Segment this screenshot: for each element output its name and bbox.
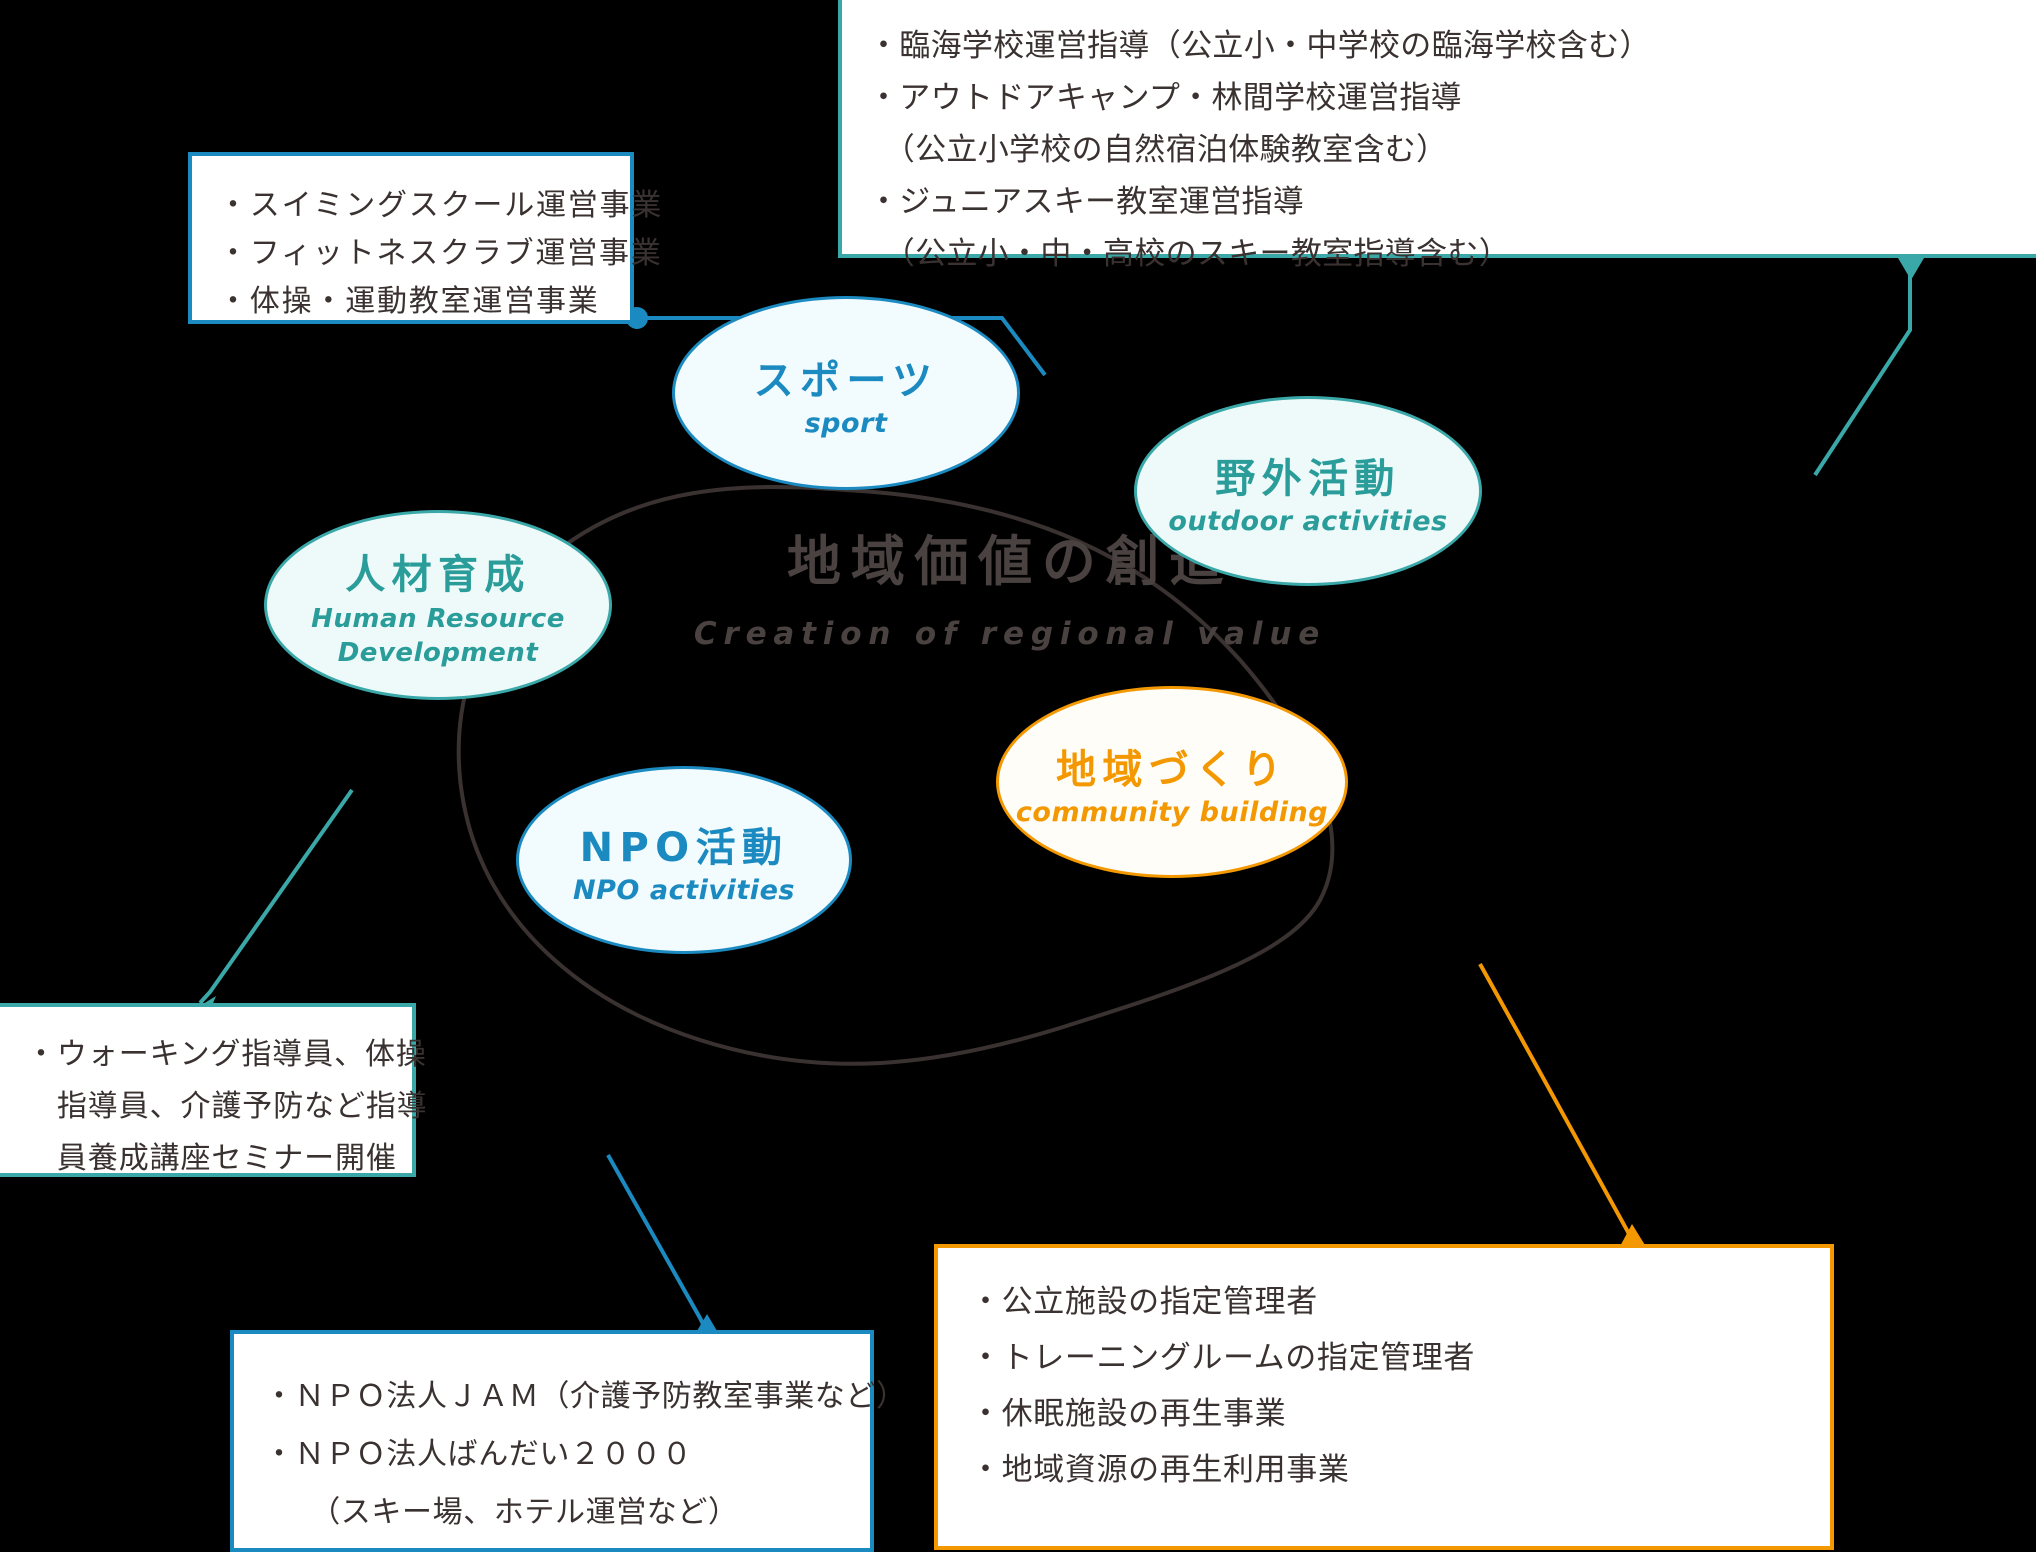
node-outdoor-label-en: outdoor activities	[1168, 506, 1447, 537]
callout-line: ・ＮＰＯ法人ばんだい２０００	[264, 1426, 870, 1484]
callout-line: （スキー場、ホテル運営など）	[264, 1484, 870, 1542]
connector-outdoor	[1815, 258, 1924, 475]
connector-hr	[190, 790, 352, 1020]
diagram-canvas: 地域価値の創造 Creation of regional value スポーツ …	[0, 0, 2036, 1550]
callout-line: ・ＮＰＯ法人ＪＡＭ（介護予防教室事業など）	[264, 1368, 870, 1426]
callout-line: ・ウォーキング指導員、体操	[26, 1029, 412, 1081]
node-outdoor[interactable]: 野外活動 outdoor activities	[1134, 396, 1482, 586]
callout-box-human-resource: ・ウォーキング指導員、体操 指導員、介護予防など指導 員養成講座セミナー開催	[0, 1003, 416, 1177]
callout-line: ・休眠施設の再生事業	[970, 1386, 1830, 1442]
connector-npo	[608, 1155, 720, 1336]
callout-line: 指導員、介護予防など指導	[26, 1081, 412, 1133]
node-hr-label-en-line2: Development	[338, 638, 539, 668]
callout-box-sports: ・スイミングスクール運営事業 ・フィットネスクラブ運営事業 ・体操・運動教室運営…	[188, 152, 634, 324]
center-title-en: Creation of regional value	[620, 604, 1400, 664]
connector-community	[1480, 964, 1648, 1250]
callout-line: ・トレーニングルームの指定管理者	[970, 1330, 1830, 1386]
callout-line: ・体操・運動教室運営事業	[218, 278, 630, 326]
node-npo-label-jp: NPO活動	[580, 815, 789, 873]
node-community-label-en: community building	[1016, 797, 1328, 828]
callout-line: ・臨海学校運営指導（公立小・中学校の臨海学校含む）	[868, 20, 2036, 72]
node-npo[interactable]: NPO活動 NPO activities	[516, 766, 852, 954]
node-community-building[interactable]: 地域づくり community building	[996, 686, 1348, 878]
callout-box-community: ・公立施設の指定管理者 ・トレーニングルームの指定管理者 ・休眠施設の再生事業 …	[934, 1244, 1834, 1550]
callout-line: ・スイミングスクール運営事業	[218, 182, 630, 230]
callout-box-npo: ・ＮＰＯ法人ＪＡＭ（介護予防教室事業など） ・ＮＰＯ法人ばんだい２０００ （スキ…	[230, 1330, 874, 1552]
node-sport-label-jp: スポーツ	[754, 348, 939, 406]
node-hr-label-jp: 人材育成	[345, 542, 531, 600]
callout-box-outdoor: ・臨海学校運営指導（公立小・中学校の臨海学校含む） ・アウトドアキャンプ・林間学…	[838, 0, 2036, 258]
node-human-resource[interactable]: 人材育成 Human Resource Development	[264, 510, 612, 700]
node-outdoor-label-jp: 野外活動	[1215, 446, 1401, 504]
node-community-label-jp: 地域づくり	[1056, 737, 1288, 795]
callout-line: ・アウトドアキャンプ・林間学校運営指導	[868, 72, 2036, 124]
callout-line: （公立小・中・高校のスキー教室指導含む）	[868, 228, 2036, 280]
callout-line: ・ジュニアスキー教室運営指導	[868, 176, 2036, 228]
callout-line: ・フィットネスクラブ運営事業	[218, 230, 630, 278]
node-hr-label-en-line1: Human Resource	[311, 604, 565, 634]
node-npo-label-en: NPO activities	[573, 875, 795, 906]
node-sport-label-en: sport	[805, 408, 888, 439]
callout-line: 員養成講座セミナー開催	[26, 1133, 412, 1185]
callout-line: ・公立施設の指定管理者	[970, 1274, 1830, 1330]
node-sport[interactable]: スポーツ sport	[672, 296, 1020, 490]
callout-line: （公立小学校の自然宿泊体験教室含む）	[868, 124, 2036, 176]
callout-line: ・地域資源の再生利用事業	[970, 1442, 1830, 1498]
